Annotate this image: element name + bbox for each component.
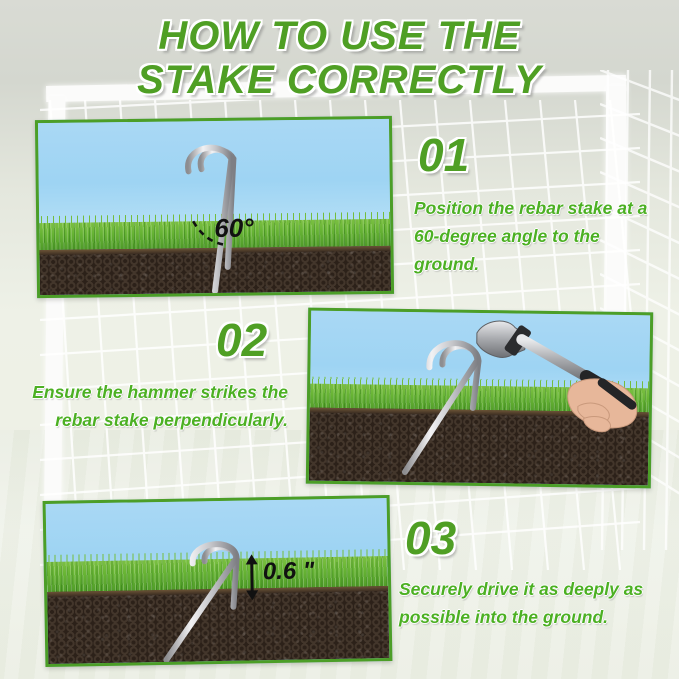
step-1-number: 01 [418, 131, 469, 179]
rebar-stake-depth-icon [46, 498, 390, 664]
step-1-photo: 60° [35, 116, 394, 298]
step-3-text: Securely drive it as deeply as possible … [399, 575, 663, 631]
page-title-line-1: HOW TO USE THE [0, 14, 679, 58]
infographic-canvas: HOW TO USE THE STAKE CORRECTLY 60° 01 Po… [0, 0, 679, 679]
step-3-photo: 0.6 " [43, 495, 393, 667]
step-3-measure-label: 0.6 " [263, 557, 315, 586]
step-1-measure-label: 60° [214, 213, 254, 244]
step-2-text: Ensure the hammer strikes the rebar stak… [22, 378, 288, 434]
page-title: HOW TO USE THE STAKE CORRECTLY [0, 14, 679, 102]
step-2-photo [306, 308, 653, 489]
step-1-text: Position the rebar stake at a 60-degree … [414, 194, 664, 278]
step-2-number: 02 [216, 316, 267, 364]
hammer-striking-stake-icon [309, 311, 650, 486]
rebar-stake-angled-icon [38, 119, 391, 295]
step-3-number: 03 [405, 514, 456, 562]
page-title-line-2: STAKE CORRECTLY [0, 58, 679, 102]
